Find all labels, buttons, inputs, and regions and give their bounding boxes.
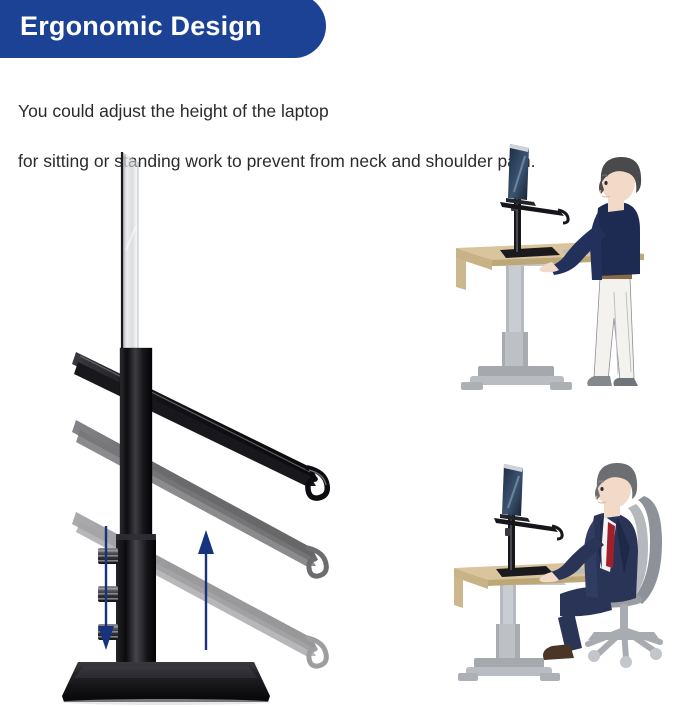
infographic-page: Ergonomic Design You could adjust the he… — [0, 0, 679, 707]
standing-person — [539, 157, 641, 386]
page-title: Ergonomic Design — [20, 11, 262, 42]
stand-pole-upper — [120, 348, 152, 538]
illustration-stage — [0, 130, 679, 707]
stand-pole-lower — [116, 534, 156, 664]
knob-2[interactable] — [98, 586, 118, 602]
stand-base-plate — [62, 662, 270, 705]
scene-sitting — [448, 452, 679, 702]
header-badge: Ergonomic Design — [0, 0, 326, 58]
scene-standing — [448, 142, 679, 442]
description-line-1: You could adjust the height of the lapto… — [18, 99, 658, 124]
sitting-desk-frame — [458, 572, 566, 681]
knob-1[interactable] — [98, 548, 118, 564]
support-arm-position-high — [72, 352, 327, 498]
product-illustration — [60, 130, 420, 707]
